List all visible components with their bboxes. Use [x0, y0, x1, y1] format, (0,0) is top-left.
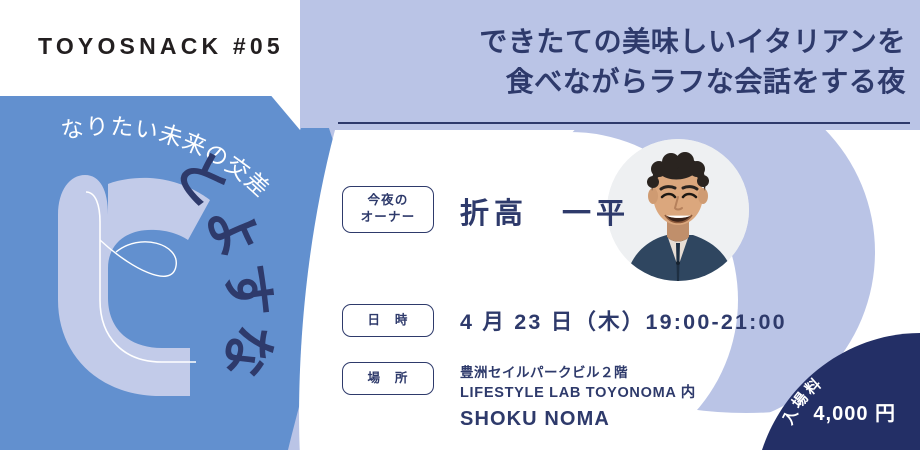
place-line-3: SHOKU NOMA	[460, 405, 696, 434]
place-line-1: 豊洲セイルパークビル２階	[460, 363, 696, 383]
price-badge-shape	[762, 333, 920, 450]
arc-tagline: なりたい未来の交差点	[0, 0, 275, 202]
brand-title: TOYOSNACK #05	[38, 33, 284, 60]
price-amount: 4,000 円	[813, 397, 896, 426]
headline: できたての美味しいイタリアンを 食べながらラフな会話をする夜	[338, 22, 906, 102]
owner-name: 折高 一平	[460, 186, 630, 229]
owner-label-pill: 今夜の オーナー	[342, 186, 434, 233]
headline-rule	[338, 122, 910, 124]
info-block: 今夜の オーナー 折高 一平 日 時 4 月 23 日（木）19:00-21:0…	[342, 186, 812, 233]
place-label-pill: 場 所	[342, 362, 434, 395]
owner-label-line-2: オーナー	[343, 209, 433, 226]
blue-blob	[0, 0, 334, 450]
headline-line-1: できたての美味しいイタリアンを	[338, 22, 906, 62]
place-value: 豊洲セイルパークビル２階 LIFESTYLE LAB TOYONOMA 内 SH…	[460, 362, 696, 434]
row-datetime: 日 時 4 月 23 日（木）19:00-21:00	[342, 304, 787, 337]
event-flyer: なりたい未来の交差点 とよすなっく 入場料 TOYOSNACK #05 できたて…	[0, 0, 920, 450]
datetime-value: 4 月 23 日（木）19:00-21:00	[460, 305, 787, 336]
logo-glyph-decoration	[58, 175, 210, 396]
blue-blob-circle	[0, 0, 390, 450]
headline-line-2: 食べながらラフな会話をする夜	[338, 62, 906, 102]
row-place: 場 所 豊洲セイルパークビル２階 LIFESTYLE LAB TOYONOMA …	[342, 362, 696, 434]
place-line-2: LIFESTYLE LAB TOYONOMA 内	[460, 383, 696, 404]
owner-label-line-1: 今夜の	[343, 192, 433, 209]
row-owner: 今夜の オーナー 折高 一平	[342, 186, 812, 233]
datetime-label-pill: 日 時	[342, 304, 434, 337]
